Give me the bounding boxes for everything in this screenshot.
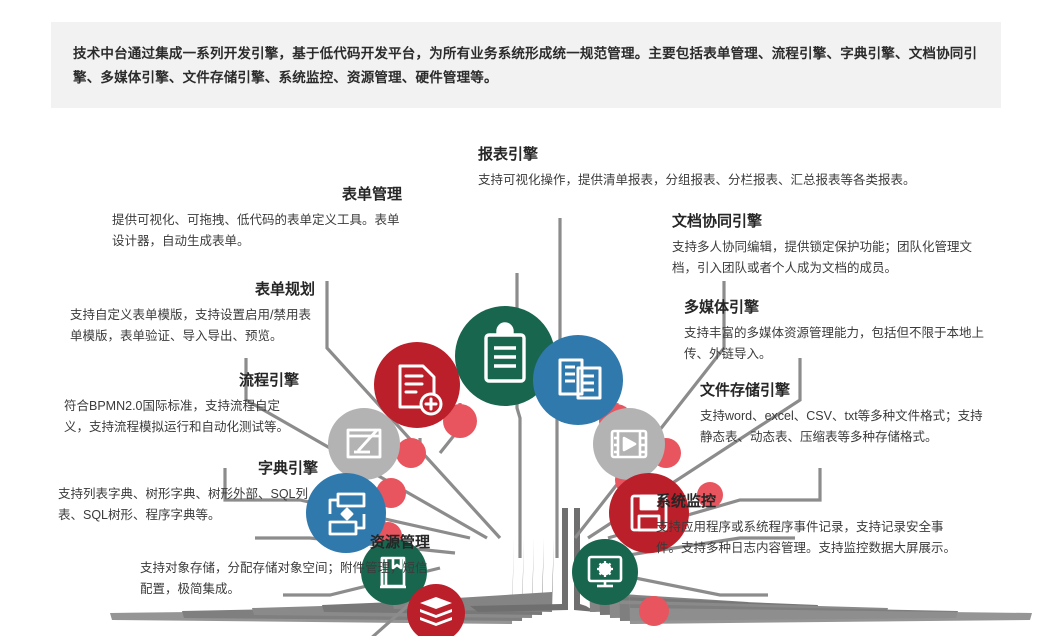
callout-description: 符合BPMN2.0国际标准，支持流程自定义，支持流程模拟运行和自动化测试等。 [64,396,299,438]
callout-dictionary-engine: 字典引擎 支持列表字典、树形字典、树形外部、SQL列表、SQL树形、程序字典等。 [58,459,318,526]
node-doc-collab[interactable] [533,335,623,425]
callout-form-planning: 表单规划 支持自定义表单模版，支持设置启用/禁用表单模版，表单验证、导入导出、预… [70,280,315,347]
node-form-planning[interactable] [328,408,400,480]
node-system-monitor[interactable] [572,539,638,605]
callout-title: 多媒体引擎 [684,298,984,318]
callout-description: 支持多人协同编辑，提供锁定保护功能；团队化管理文档，引入团队或者个人成为文档的成… [672,237,992,279]
callout-title: 表单规划 [70,280,315,300]
node-multimedia[interactable] [593,408,665,480]
callout-title: 系统监控 [656,492,956,512]
callout-multimedia: 多媒体引擎 支持丰富的多媒体资源管理能力，包括但不限于本地上传、外链导入。 [684,298,984,365]
node-form-manager[interactable] [374,342,460,428]
callout-resource-manager: 资源管理 支持对象存储，分配存储对象空间；附件管理，短信配置，极简集成。 [140,533,430,600]
callout-description: 支持自定义表单模版，支持设置启用/禁用表单模版，表单验证、导入导出、预览。 [70,305,315,347]
callout-workflow-engine: 流程引擎 符合BPMN2.0国际标准，支持流程自定义，支持流程模拟运行和自动化测… [64,371,299,438]
callout-title: 字典引擎 [58,459,318,479]
callout-file-storage: 文件存储引擎 支持word、excel、CSV、txt等多种文件格式；支持静态表… [700,381,990,448]
callout-title: 文档协同引擎 [672,212,992,232]
callout-system-monitor: 系统监控 支持应用程序或系统程序事件记录，支持记录安全事件。支持多种日志内容管理… [656,492,956,559]
banner-description: 技术中台通过集成一系列开发引擎，基于低代码开发平台，为所有业务系统形成统一规范管… [73,42,979,90]
callout-description: 支持列表字典、树形字典、树形外部、SQL列表、SQL树形、程序字典等。 [58,484,318,526]
callout-description: 支持可视化操作，提供清单报表，分组报表、分栏报表、汇总报表等各类报表。 [478,170,998,191]
callout-title: 表单管理 [112,185,402,205]
callout-description: 支持word、excel、CSV、txt等多种文件格式；支持静态表、动态表、压缩… [700,406,990,448]
callout-form-manager: 表单管理 提供可视化、可拖拽、低代码的表单定义工具。表单设计器，自动生成表单。 [112,185,402,252]
callout-description: 提供可视化、可拖拽、低代码的表单定义工具。表单设计器，自动生成表单。 [112,210,402,252]
callout-title: 流程引擎 [64,371,299,391]
callout-title: 报表引擎 [478,145,998,165]
callout-description: 支持丰富的多媒体资源管理能力，包括但不限于本地上传、外链导入。 [684,323,984,365]
callout-description: 支持应用程序或系统程序事件记录，支持记录安全事件。支持多种日志内容管理。支持监控… [656,517,956,559]
callout-title: 资源管理 [140,533,430,553]
callout-report-engine: 报表引擎 支持可视化操作，提供清单报表，分组报表、分栏报表、汇总报表等各类报表。 [478,145,998,191]
callout-doc-collab: 文档协同引擎 支持多人协同编辑，提供锁定保护功能；团队化管理文档，引入团队或者个… [672,212,992,279]
callout-title: 文件存储引擎 [700,381,990,401]
infographic-page: { "banner": { "text": "技术中台通过集成一系列开发引擎，基… [0,0,1051,636]
header-banner: 技术中台通过集成一系列开发引擎，基于低代码开发平台，为所有业务系统形成统一规范管… [51,22,1001,108]
callout-description: 支持对象存储，分配存储对象空间；附件管理，短信配置，极简集成。 [140,558,430,600]
